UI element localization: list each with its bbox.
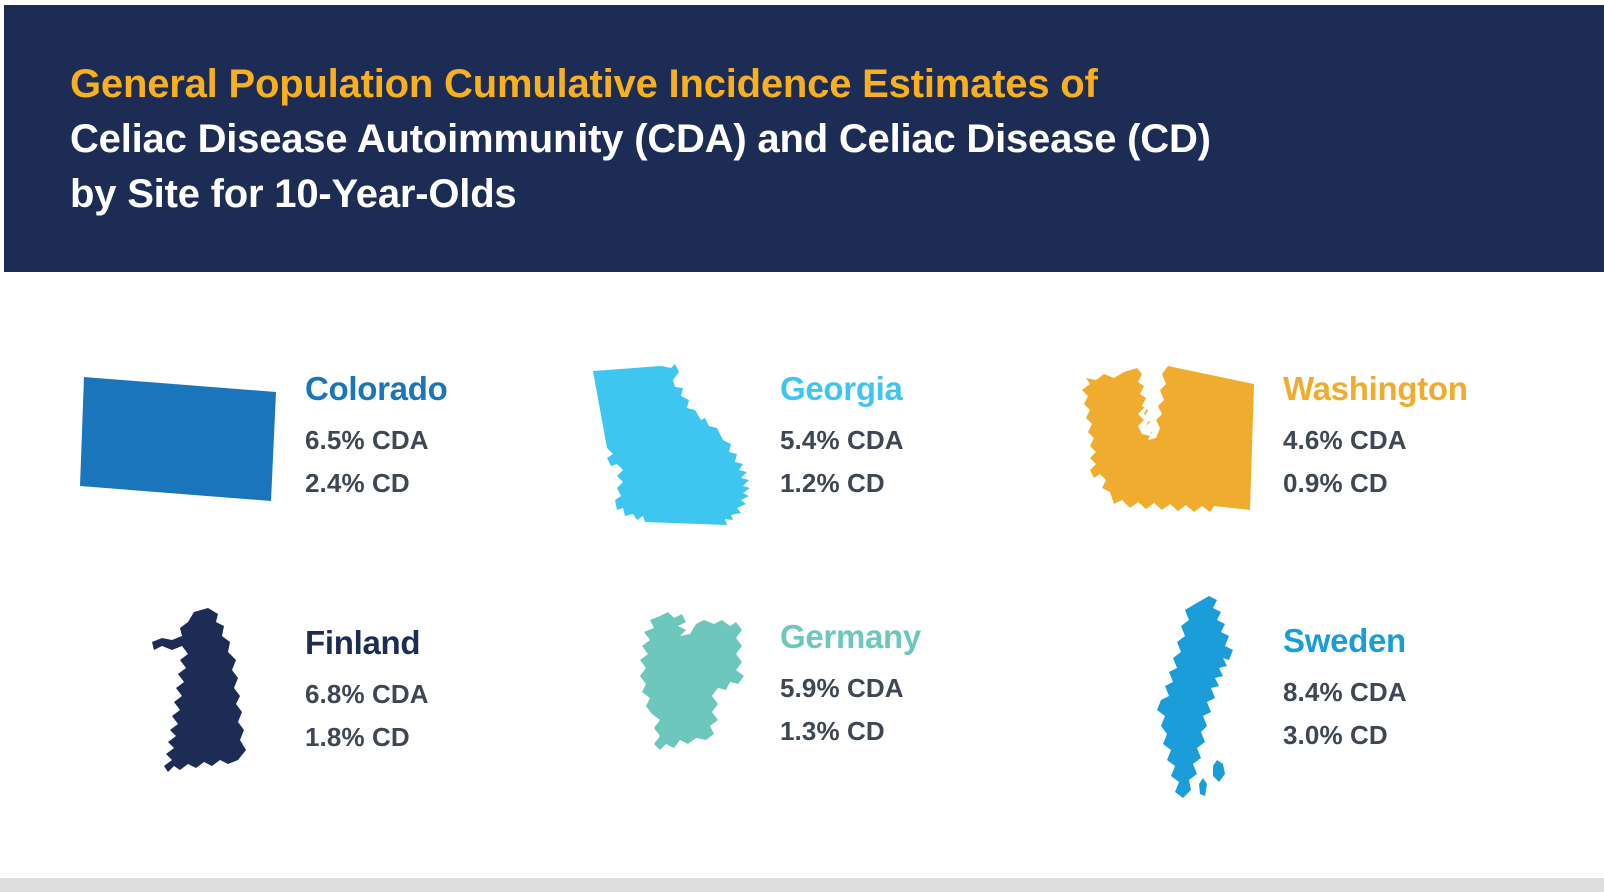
site-card-georgia: Georgia 5.4% CDA 1.2% CD xyxy=(560,362,1030,527)
site-name-georgia: Georgia xyxy=(780,372,1030,405)
stat-cd-germany: 1.3% CD xyxy=(780,718,1025,744)
site-card-text-colorado: Colorado 6.5% CDA 2.4% CD xyxy=(305,364,530,496)
colorado-map-shape xyxy=(80,377,276,501)
site-name-colorado: Colorado xyxy=(305,372,530,405)
washington-map-icon xyxy=(1040,362,1283,517)
finland-map-icon xyxy=(115,602,305,804)
stat-cda-sweden: 8.4% CDA xyxy=(1283,679,1560,705)
site-card-sweden: Sweden 8.4% CDA 3.0% CD xyxy=(1120,592,1560,807)
page-title-line-3: by Site for 10-Year-Olds xyxy=(70,167,1520,222)
site-name-germany: Germany xyxy=(780,620,1025,653)
header-banner: General Population Cumulative Incidence … xyxy=(4,5,1604,272)
stat-cda-germany: 5.9% CDA xyxy=(780,675,1025,701)
germany-map-icon xyxy=(605,602,780,765)
colorado-map-icon xyxy=(60,364,305,504)
georgia-map-icon xyxy=(560,362,780,527)
site-card-text-georgia: Georgia 5.4% CDA 1.2% CD xyxy=(780,362,1030,496)
stat-cd-washington: 0.9% CD xyxy=(1283,470,1560,496)
site-name-finland: Finland xyxy=(305,626,535,659)
sweden-gotland-island xyxy=(1213,760,1225,782)
stat-cd-finland: 1.8% CD xyxy=(305,724,535,750)
site-card-washington: Washington 4.6% CDA 0.9% CD xyxy=(1040,362,1560,517)
finland-map-shape xyxy=(152,608,246,772)
page-title-line-1: General Population Cumulative Incidence … xyxy=(70,57,1520,112)
site-card-text-germany: Germany 5.9% CDA 1.3% CD xyxy=(780,602,1025,744)
stat-cd-georgia: 1.2% CD xyxy=(780,470,1030,496)
site-card-finland: Finland 6.8% CDA 1.8% CD xyxy=(115,602,535,804)
footer-divider xyxy=(0,878,1604,892)
stat-cda-washington: 4.6% CDA xyxy=(1283,427,1560,453)
georgia-map-shape xyxy=(593,364,750,525)
site-card-grid: Colorado 6.5% CDA 2.4% CD Georgia 5.4% C… xyxy=(0,272,1604,878)
washington-map-shape xyxy=(1082,366,1254,512)
site-card-colorado: Colorado 6.5% CDA 2.4% CD xyxy=(60,364,530,504)
germany-map-shape xyxy=(640,612,744,750)
page-title-line-2: Celiac Disease Autoimmunity (CDA) and Ce… xyxy=(70,112,1520,167)
sweden-map-icon xyxy=(1120,592,1283,807)
page-title: General Population Cumulative Incidence … xyxy=(70,57,1520,221)
site-name-sweden: Sweden xyxy=(1283,624,1560,657)
site-name-washington: Washington xyxy=(1283,372,1560,405)
site-card-text-sweden: Sweden 8.4% CDA 3.0% CD xyxy=(1283,592,1560,748)
sweden-oland-island xyxy=(1199,778,1207,796)
stat-cd-sweden: 3.0% CD xyxy=(1283,722,1560,748)
stat-cda-finland: 6.8% CDA xyxy=(305,681,535,707)
stat-cd-colorado: 2.4% CD xyxy=(305,470,530,496)
stat-cda-colorado: 6.5% CDA xyxy=(305,427,530,453)
site-card-text-finland: Finland 6.8% CDA 1.8% CD xyxy=(305,602,535,750)
site-card-germany: Germany 5.9% CDA 1.3% CD xyxy=(605,602,1025,765)
site-card-text-washington: Washington 4.6% CDA 0.9% CD xyxy=(1283,362,1560,496)
stat-cda-georgia: 5.4% CDA xyxy=(780,427,1030,453)
